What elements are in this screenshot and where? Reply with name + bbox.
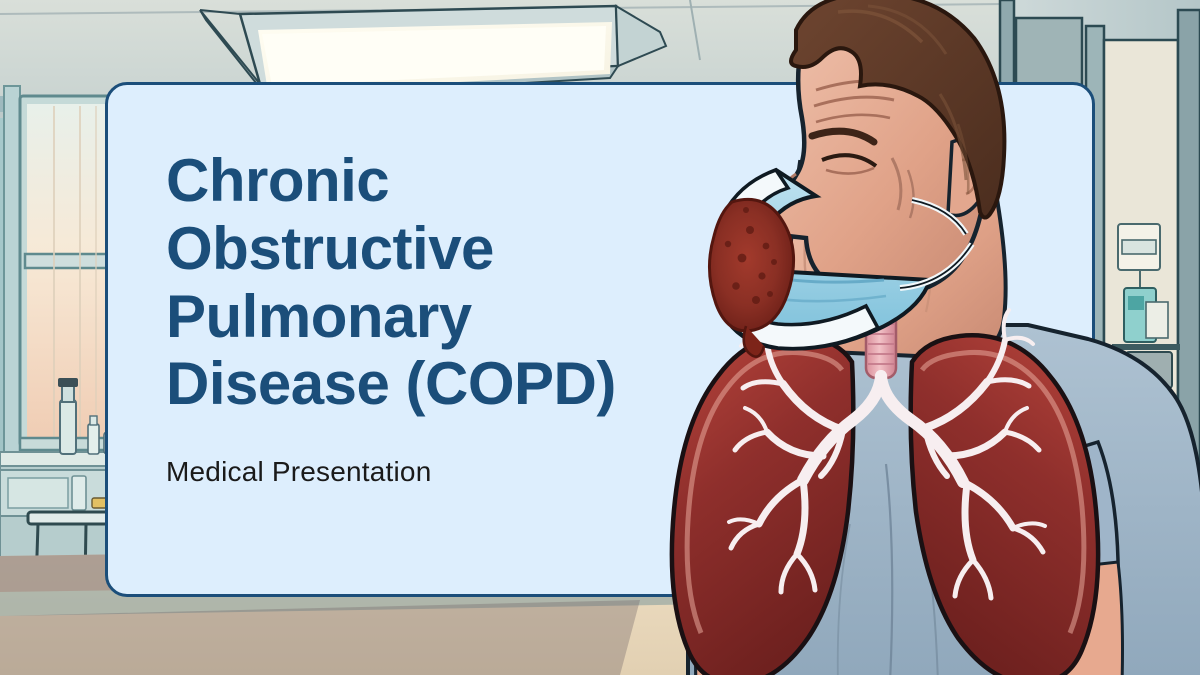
page-title: Chronic Obstructive Pulmonary Disease (C… (166, 147, 686, 418)
presentation-slide: Chronic Obstructive Pulmonary Disease (C… (0, 0, 1200, 675)
slide-subtitle: Medical Presentation (166, 456, 1092, 488)
title-card: Chronic Obstructive Pulmonary Disease (C… (105, 82, 1095, 597)
